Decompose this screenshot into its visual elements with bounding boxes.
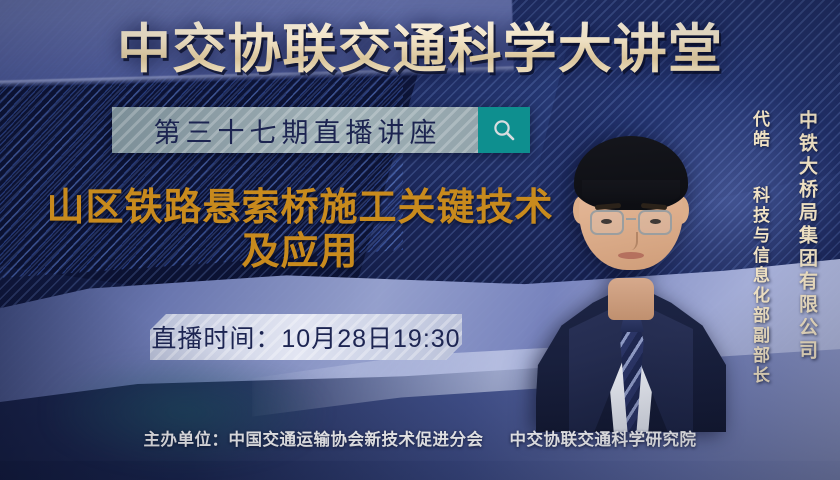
portrait-glasses-bridge (626, 218, 636, 220)
portrait-mouth (618, 252, 644, 259)
portrait-hair (574, 136, 688, 210)
live-broadcast-poster: 中交协联交通科学大讲堂 第三十七期直播讲座 山区铁路悬索桥施工关键技术 及应用 … (0, 0, 840, 480)
speaker-name: 代皓 (751, 110, 768, 150)
speaker-organization: 中铁大桥局集团有限公司 (797, 110, 816, 363)
headline-line-1: 山区铁路悬索桥施工关键技术 (46, 186, 554, 230)
portrait-nose (624, 232, 638, 250)
footer-institute: 中交协联交通科学研究院 (510, 426, 697, 450)
footer-organizers: 主办单位：中国交通运输协会新技术促进分会 中交协联交通科学研究院 (0, 425, 840, 451)
search-icon-box[interactable] (478, 107, 530, 153)
broadcast-time-label: 直播时间：10月28日19:30 (151, 319, 460, 355)
broadcast-time-chip: 直播时间：10月28日19:30 (150, 314, 462, 360)
speaker-job-title: 科技与信息化部副部长 (751, 186, 768, 386)
portrait-neck (608, 278, 654, 320)
page-title: 中交协联交通科学大讲堂 (0, 14, 840, 76)
speaker-portrait (536, 92, 726, 432)
portrait-glasses-left-lens (590, 210, 624, 235)
teal-glow-wash (50, 355, 386, 470)
episode-banner-body: 第三十七期直播讲座 (112, 107, 478, 153)
episode-label: 第三十七期直播讲座 (149, 111, 442, 150)
search-icon (491, 117, 517, 143)
portrait-glasses-right-lens (638, 210, 672, 235)
footer-organizer: 主办单位：中国交通运输协会新技术促进分会 (144, 426, 484, 450)
episode-banner: 第三十七期直播讲座 (112, 107, 530, 153)
lecture-headline: 山区铁路悬索桥施工关键技术 及应用 (46, 186, 554, 275)
headline-line-2: 及应用 (46, 230, 554, 274)
